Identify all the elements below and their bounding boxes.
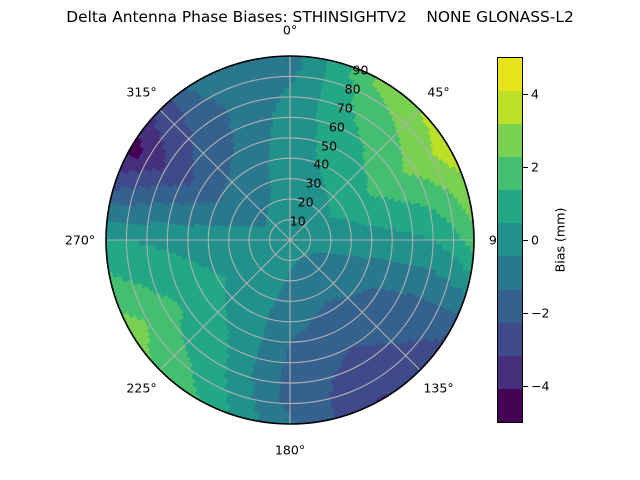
angular-tick-label-315: 315° — [126, 84, 156, 99]
colorbar-band — [498, 190, 522, 223]
radial-tick-label-60: 60 — [329, 119, 345, 134]
polar-axes: 0°45°90°135°180°225°270°315° 10203040506… — [105, 55, 475, 425]
colorbar-tick-label: 2 — [531, 159, 539, 174]
colorbar-band — [498, 290, 522, 323]
radial-tick-label-20: 20 — [298, 195, 314, 210]
colorbar-tick-mark — [523, 94, 528, 95]
colorbar-tick-label: 4 — [531, 86, 539, 101]
colorbar-band — [498, 256, 522, 289]
colorbar-gradient — [497, 57, 523, 423]
colorbar-band — [498, 223, 522, 256]
colorbar-band — [498, 389, 522, 422]
colorbar-band — [498, 58, 522, 91]
colorbar-tick-label: −4 — [531, 379, 550, 394]
colorbar-band — [498, 124, 522, 157]
angular-tick-label-0: 0° — [283, 23, 297, 38]
angular-tick-label-135: 135° — [423, 381, 453, 396]
radial-tick-label-10: 10 — [290, 214, 306, 229]
radial-tick-label-40: 40 — [313, 157, 329, 172]
radial-tick-label-30: 30 — [305, 176, 321, 191]
colorbar-band — [498, 157, 522, 190]
page-title: Delta Antenna Phase Biases: STHINSIGHTV2… — [0, 8, 640, 26]
polar-grid-layer — [106, 56, 474, 424]
colorbar-axis-label: Bias (mm) — [553, 208, 568, 273]
radial-tick-label-70: 70 — [337, 100, 353, 115]
angular-tick-label-225: 225° — [126, 381, 156, 396]
polar-contour-plot — [105, 55, 475, 425]
radial-tick-label-80: 80 — [345, 81, 361, 96]
colorbar-tick-mark — [523, 240, 528, 241]
angular-tick-label-270: 270° — [65, 233, 95, 248]
angular-tick-label-180: 180° — [275, 443, 305, 458]
figure-canvas: Delta Antenna Phase Biases: STHINSIGHTV2… — [0, 0, 640, 480]
radial-tick-label-50: 50 — [321, 138, 337, 153]
colorbar-band — [498, 356, 522, 389]
colorbar-tick-mark — [523, 386, 528, 387]
colorbar-tick-mark — [523, 167, 528, 168]
colorbar-tick-label: −2 — [531, 306, 550, 321]
colorbar-band — [498, 91, 522, 124]
colorbar-tick-label: 0 — [531, 233, 539, 248]
radial-tick-label-90: 90 — [352, 63, 368, 78]
colorbar-band — [498, 323, 522, 356]
colorbar-tick-mark — [523, 313, 528, 314]
angular-tick-label-45: 45° — [427, 84, 449, 99]
colorbar: 420−2−4 — [497, 57, 523, 423]
